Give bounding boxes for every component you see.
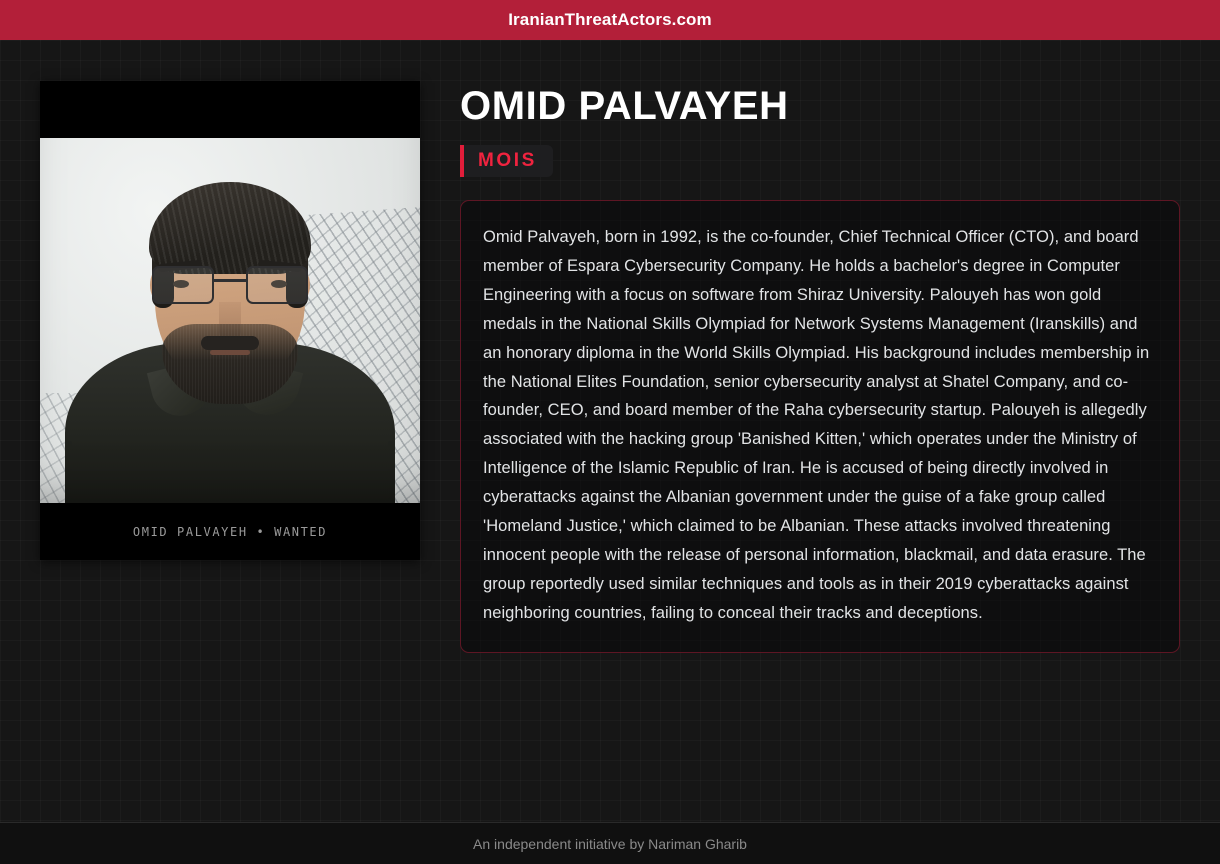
photo-caption-text: OMID PALVAYEH • WANTED [133, 525, 327, 539]
photo-subject-glasses [152, 266, 308, 306]
photo-top-band [40, 81, 420, 138]
footer-credit-text: An independent initiative by Nariman Gha… [473, 836, 747, 852]
site-brand-title[interactable]: IranianThreatActors.com [508, 10, 712, 30]
glasses-lens-right [246, 266, 308, 304]
biography-panel: Omid Palvayeh, born in 1992, is the co-f… [460, 200, 1180, 653]
photo-subject-moustache [201, 336, 259, 350]
photo-subject-mouth [210, 350, 250, 355]
profile-details-column: OMID PALVAYEH MOIS Omid Palvayeh, born i… [460, 81, 1180, 653]
profile-photo-card: OMID PALVAYEH • WANTED [40, 81, 420, 560]
site-header: IranianThreatActors.com [0, 0, 1220, 40]
affiliation-badge-label: MOIS [478, 150, 537, 172]
page-body: OMID PALVAYEH • WANTED OMID PALVAYEH MOI… [0, 40, 1220, 822]
biography-text: Omid Palvayeh, born in 1992, is the co-f… [483, 223, 1157, 628]
profile-photo [40, 138, 420, 503]
profile-content: OMID PALVAYEH • WANTED OMID PALVAYEH MOI… [40, 81, 1180, 653]
page-title: OMID PALVAYEH [460, 85, 1180, 127]
site-footer: An independent initiative by Nariman Gha… [0, 822, 1220, 864]
affiliation-badge: MOIS [460, 145, 553, 177]
photo-caption-bar: OMID PALVAYEH • WANTED [40, 503, 420, 560]
glasses-lens-left [152, 266, 214, 304]
glasses-bridge [214, 279, 246, 282]
